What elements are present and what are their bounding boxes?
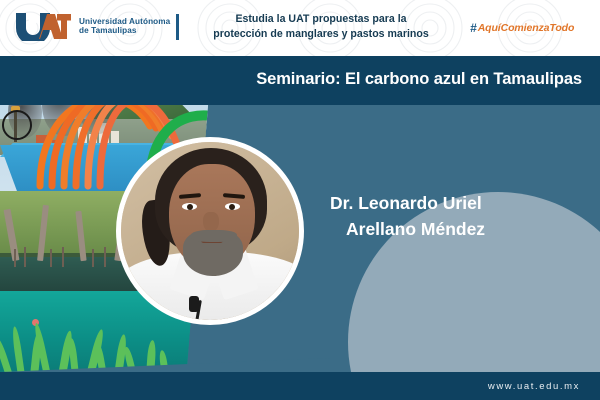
mangrove-root (92, 249, 94, 267)
speaker-name-line2: Arellano Méndez (330, 216, 582, 242)
website-url: www.uat.edu.mx (488, 381, 580, 392)
shirt-logo-circle-icon (256, 306, 264, 314)
portrait-lapel-mic (189, 296, 199, 312)
page-header: Universidad Autónoma de Tamaulipas Estud… (0, 0, 600, 56)
headline-line1: Estudia la UAT propuestas para la (196, 12, 446, 27)
uat-logo-text: Universidad Autónoma de Tamaulipas (79, 17, 170, 35)
headline-line2: protección de manglares y pastos marinos (196, 27, 446, 42)
portrait-pupil-right (229, 204, 235, 210)
portrait-mustache (191, 230, 237, 242)
mangrove-root (14, 249, 16, 267)
mangrove-root (50, 249, 52, 267)
header-divider (176, 14, 179, 40)
uat-logo[interactable]: Universidad Autónoma de Tamaulipas (14, 11, 170, 41)
tagline-text: AquíComienzaTodo (478, 22, 575, 34)
mangrove-root (24, 247, 26, 267)
campaign-tagline: # AquíComienzaTodo (470, 21, 574, 35)
portrait-pupil-left (187, 204, 193, 210)
headline: Estudia la UAT propuestas para la protec… (196, 12, 446, 42)
shirt-logo-bar (266, 306, 267, 314)
slide-canvas: Seminario: El carbono azul en Tamaulipas… (0, 0, 600, 400)
mangrove-root (62, 247, 64, 267)
university-name-line1: Universidad Autónoma (79, 17, 170, 26)
speaker-name-line1: Dr. Leonardo Uriel (330, 193, 482, 213)
portrait-shirt-logo-right (256, 306, 269, 314)
uat-logo-mark-icon (14, 11, 72, 41)
speaker-name: Dr. Leonardo Uriel Arellano Méndez (330, 190, 582, 243)
speaker-portrait (116, 137, 304, 325)
mangrove-root (104, 247, 106, 267)
university-name-line2: de Tamaulipas (79, 26, 170, 35)
portrait-nose (203, 212, 219, 232)
hashtag-icon: # (470, 21, 477, 35)
seminar-title: Seminario: El carbono azul en Tamaulipas (256, 70, 582, 89)
